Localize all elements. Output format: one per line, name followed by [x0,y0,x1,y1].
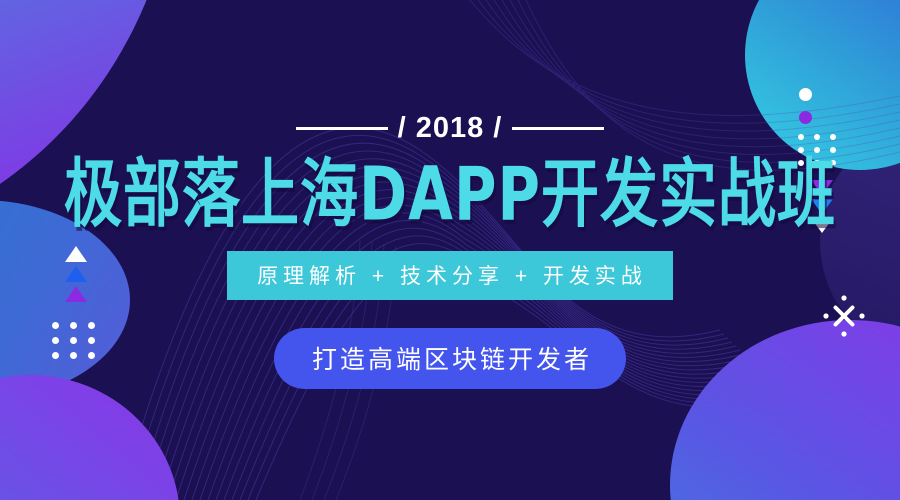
main-title: 极部落上海DAPP开发实战班 [64,157,836,231]
promo-banner: / 2018 / 极部落上海DAPP开发实战班 原理解析 + 技术分享 + 开发… [0,0,900,500]
cta-pill-button[interactable]: 打造高端区块链开发者 [274,328,626,389]
rule-left [296,127,388,130]
content-stack: / 2018 / 极部落上海DAPP开发实战班 原理解析 + 技术分享 + 开发… [0,0,900,500]
year-row: / 2018 / [296,112,605,145]
subtitle-bar: 原理解析 + 技术分享 + 开发实战 [227,251,673,300]
rule-right [512,127,604,130]
year-label: / 2018 / [398,112,503,145]
